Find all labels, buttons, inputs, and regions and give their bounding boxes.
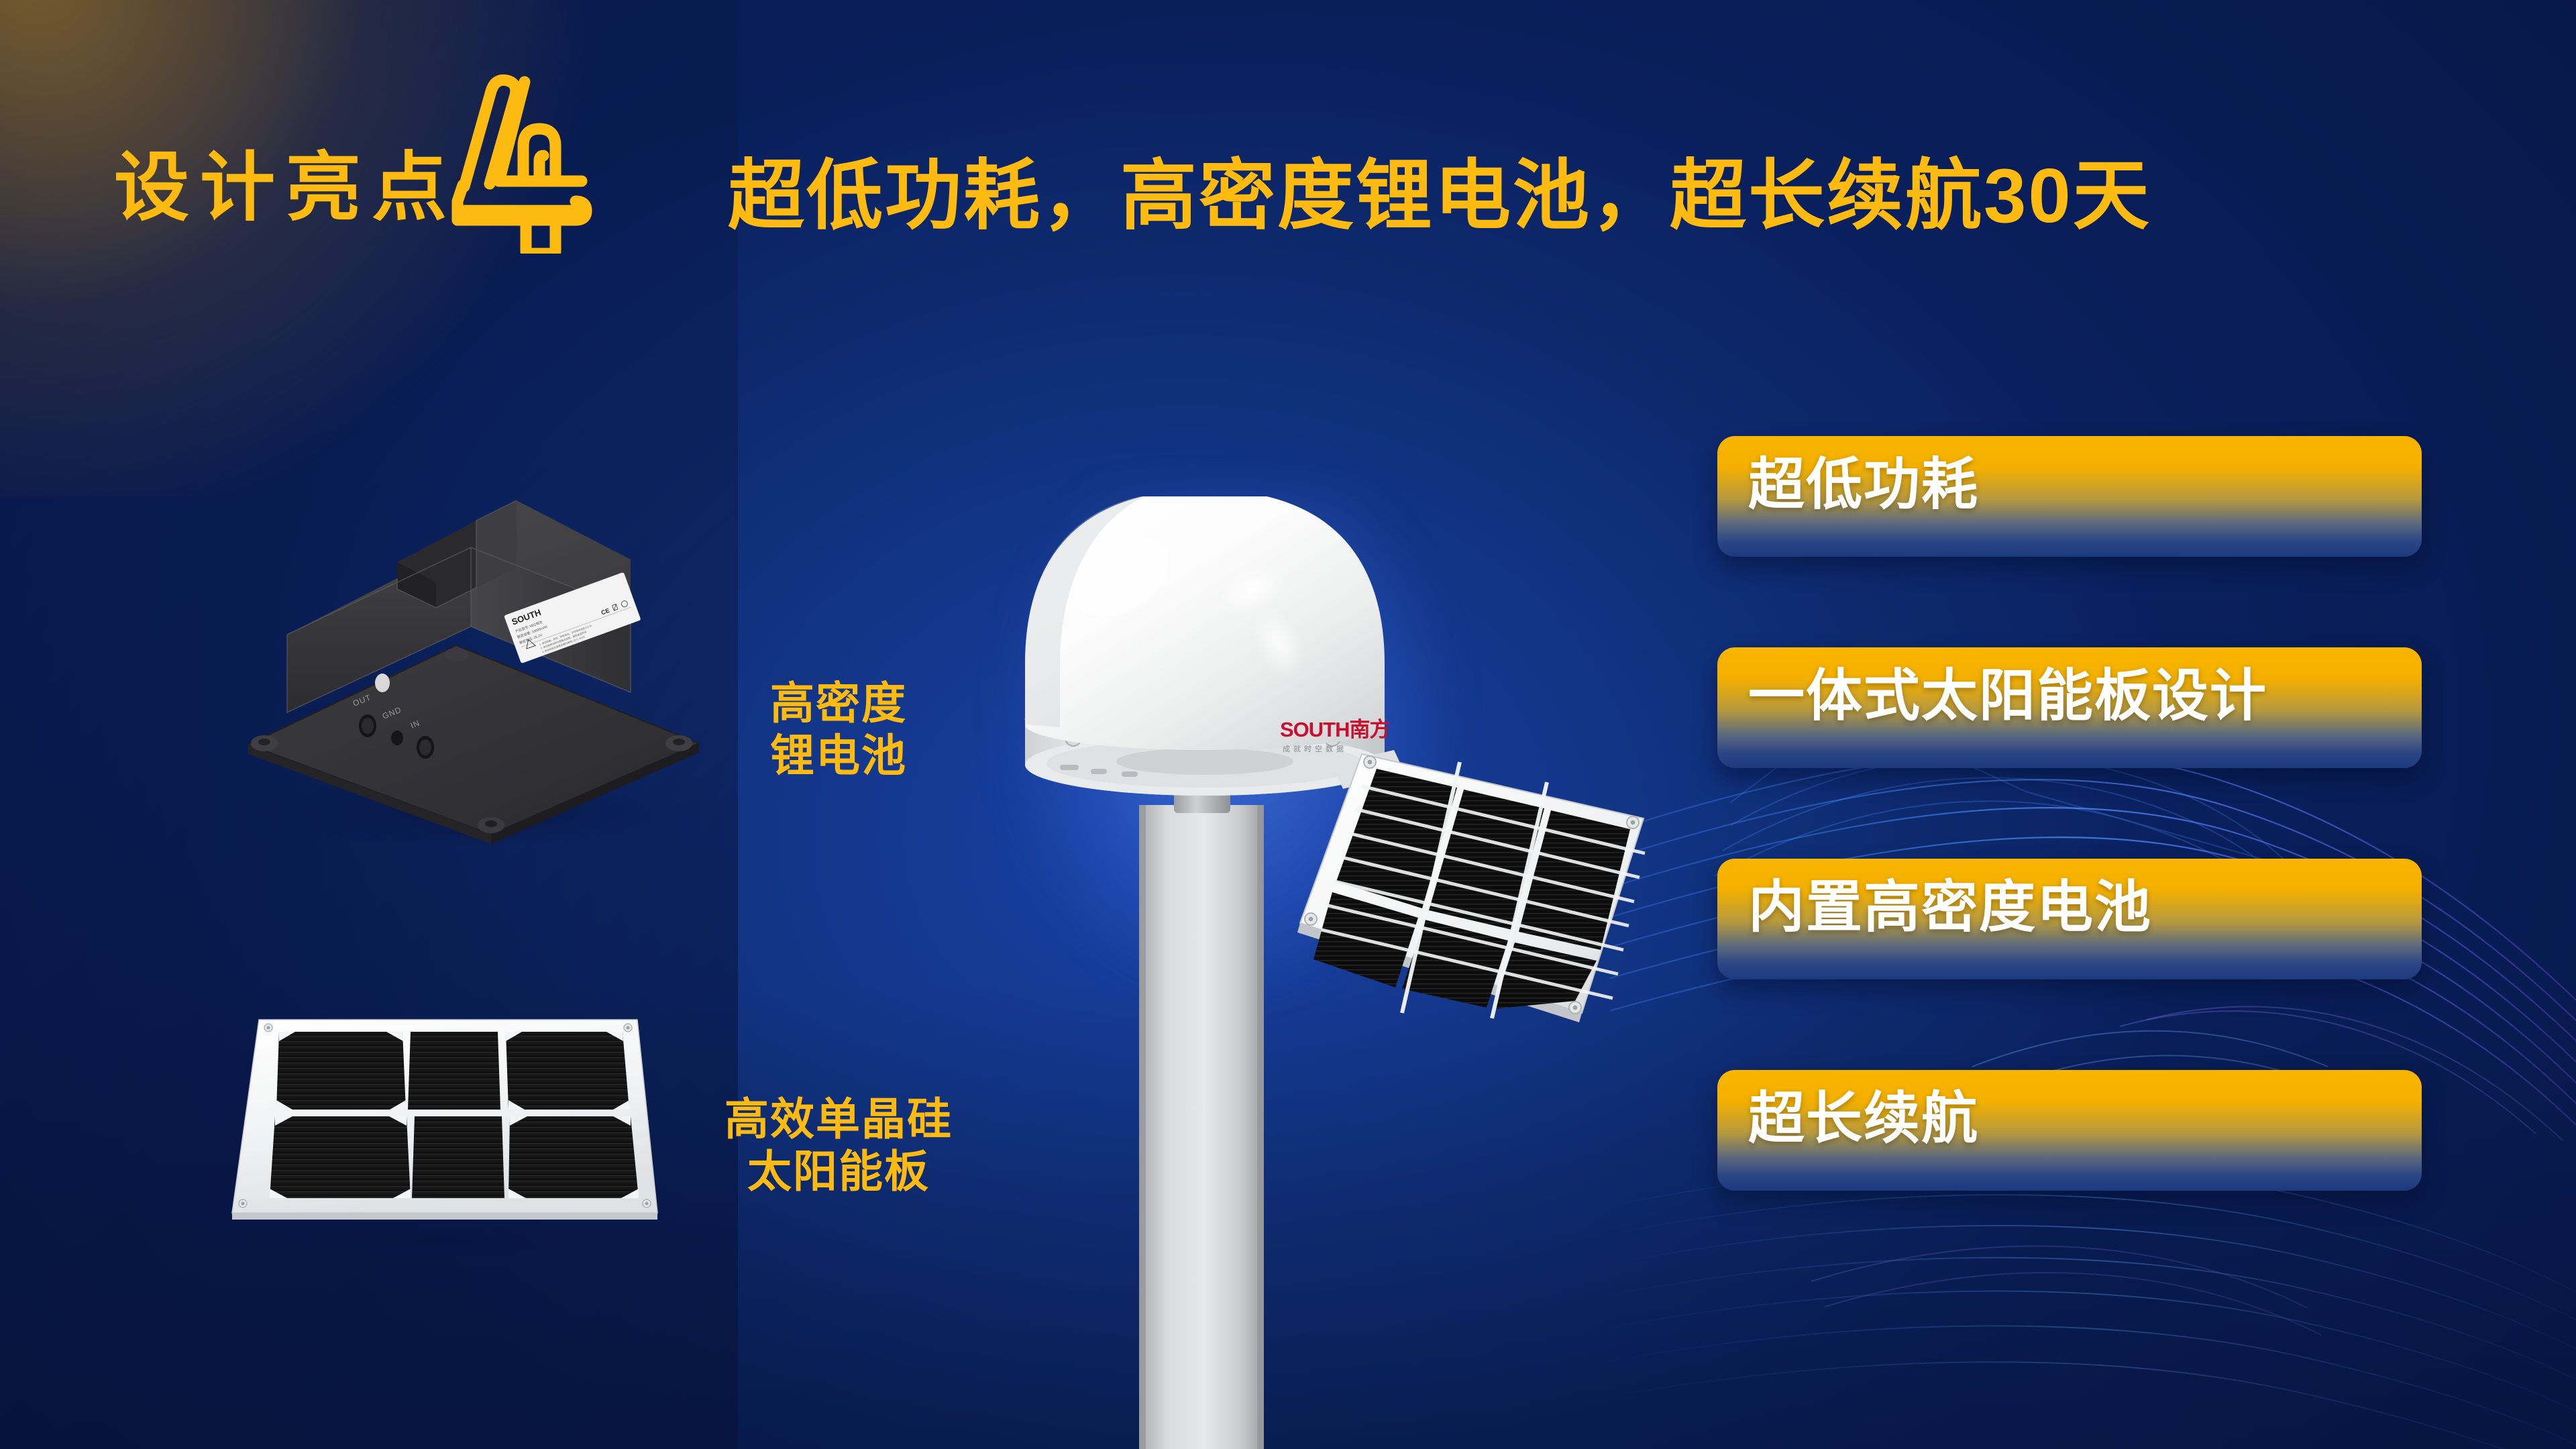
solar-caption-line2: 太阳能板 — [684, 1146, 993, 1198]
battery-caption: 高密度 锂电池 — [711, 678, 966, 782]
integrated-solar-panel — [1297, 750, 1645, 1022]
feature-badge-4[interactable]: 超长续航 — [1717, 1070, 2422, 1191]
south-brand-logo: SOUTH南方 — [1280, 719, 1390, 740]
solar-panel-caption: 高效单晶硅 太阳能板 — [684, 1093, 993, 1198]
feature-badge-3-label: 内置高密度电池 — [1717, 859, 2152, 935]
gnss-antenna-image — [959, 496, 1684, 1449]
south-brand-tagline: 成就时空数据 — [1283, 743, 1347, 754]
feature-badge-3[interactable]: 内置高密度电池 — [1717, 859, 2422, 979]
headline: 超低功耗，高密度锂电池，超长续航30天 — [728, 158, 2151, 235]
feature-badge-2[interactable]: 一体式太阳能板设计 — [1717, 647, 2422, 768]
battery-caption-line1: 高密度 — [711, 678, 966, 730]
solar-caption-line1: 高效单晶硅 — [684, 1093, 993, 1146]
feature-badge-2-label: 一体式太阳能板设计 — [1717, 647, 2267, 724]
feature-badge-1[interactable]: 超低功耗 — [1717, 436, 2422, 557]
slide-canvas: 设计亮点 超低功耗，高密度锂电池，超长续航30天 — [0, 0, 2576, 1449]
feature-badge-1-label: 超低功耗 — [1717, 436, 1979, 513]
page-title: 设计亮点 — [114, 150, 458, 225]
battery-caption-line2: 锂电池 — [711, 730, 966, 782]
feature-badge-4-label: 超长续航 — [1717, 1070, 1979, 1146]
design-highlight-line-icon — [437, 52, 612, 254]
battery-box-image: SOUTH 产品型号: M02电池 额定容量: 10000mAh 额定电压: 2… — [201, 476, 738, 845]
solar-panel-image — [195, 1000, 678, 1288]
mounting-pole — [1139, 805, 1264, 1449]
